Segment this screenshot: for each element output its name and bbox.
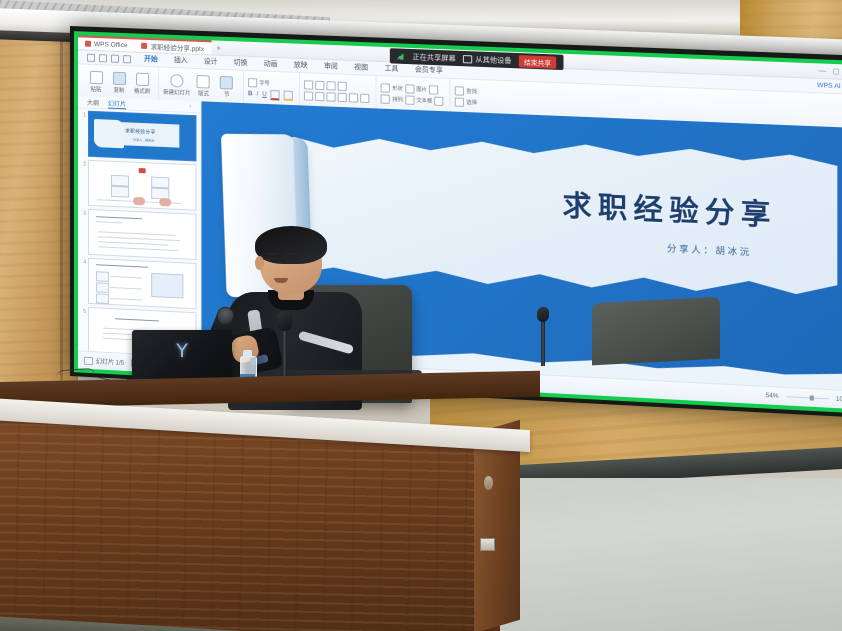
highlight-color-button[interactable]	[284, 90, 293, 100]
app-tab-label: WPS Office	[94, 40, 128, 48]
document-tab-label: 求职经验分享.pptx	[151, 41, 205, 53]
thumb-node	[96, 293, 109, 304]
podium-knob	[484, 476, 493, 490]
presentation-room-scene: 正在共享屏幕 从其他设备 结束共享 WPS Office 求职经验分享.pptx…	[0, 0, 842, 631]
thumb-line	[115, 318, 159, 322]
window-controls: — ▢ ✕	[812, 63, 842, 79]
redo-icon[interactable]	[123, 55, 131, 63]
ribbon-tab-design[interactable]: 设计	[196, 55, 226, 69]
textbox-label: 排列	[392, 96, 403, 104]
new-slide-label: 新建幻灯片	[163, 88, 190, 97]
ribbon-group-drawing: 形状 图片 排列 文本框	[376, 76, 448, 113]
editing-controls: 查找 选择	[455, 86, 477, 107]
paste-icon	[89, 71, 102, 85]
cast-group: 从其他设备	[463, 53, 512, 65]
align-center-icon[interactable]	[316, 92, 325, 101]
person-ear	[255, 256, 264, 270]
chair-secondary	[592, 297, 720, 366]
paste-label: 粘贴	[91, 85, 102, 93]
picture-label: 图片	[416, 86, 427, 94]
thumb-node	[111, 175, 129, 187]
podium-front-face	[0, 414, 500, 631]
print-icon[interactable]	[99, 54, 107, 62]
line-spacing-icon[interactable]	[338, 93, 347, 102]
textbox-icon[interactable]	[381, 94, 390, 103]
thumbnail-slide-2[interactable]	[88, 160, 197, 211]
arrange-icon[interactable]	[429, 85, 438, 95]
person-eye-left	[268, 258, 276, 261]
thumb-line	[110, 276, 142, 279]
thumbnail-slide-3[interactable]	[88, 209, 197, 260]
thumb-node	[151, 177, 169, 189]
signal-icon	[397, 52, 405, 59]
ribbon-group-editing: 查找 选择	[450, 79, 481, 115]
thumbnail-slide-1[interactable]: 求职经验分享 分享人：胡冰沅	[88, 111, 197, 162]
bold-button[interactable]: B	[248, 91, 252, 97]
thumb-chip	[159, 198, 171, 207]
format-painter-label: 格式刷	[134, 87, 150, 96]
person-eyebrow-right	[285, 253, 295, 255]
ribbon-tab-view[interactable]: 视图	[346, 61, 376, 75]
bottle-cap	[243, 350, 252, 358]
new-slide-icon	[170, 74, 183, 88]
share-status-label: 正在共享屏幕	[412, 52, 455, 64]
thumb-torn-paper	[94, 119, 124, 148]
thumb-chip	[133, 197, 145, 206]
zoom-slider[interactable]	[786, 396, 829, 400]
thumb-sidebox	[151, 273, 183, 299]
find-label: 查找	[466, 88, 477, 96]
person-eye-right	[286, 258, 294, 261]
thumb-line	[96, 221, 122, 223]
format-painter-button[interactable]: 格式刷	[132, 72, 152, 95]
list-item[interactable]: 1 求职经验分享 分享人：胡冰沅	[78, 110, 196, 161]
list-item[interactable]: 4	[78, 257, 196, 309]
app-tab[interactable]: WPS Office	[78, 35, 135, 51]
shape-icon[interactable]	[381, 83, 390, 92]
list-item[interactable]: 3	[78, 208, 196, 260]
person-eyebrow-left	[267, 253, 277, 255]
section-label: 节	[224, 90, 229, 98]
copy-button[interactable]: 复制	[109, 72, 129, 95]
font-size-label: 字号	[259, 79, 270, 86]
font-color-button[interactable]	[271, 90, 280, 100]
layout-button[interactable]: 版式	[193, 75, 213, 98]
thumbnail-number: 4	[78, 257, 86, 265]
italic-button[interactable]: I	[257, 91, 259, 97]
copy-icon	[113, 72, 126, 86]
align-left-icon[interactable]	[304, 91, 313, 100]
thumbnail-slide-4[interactable]	[88, 258, 197, 309]
ribbon-tab-animation[interactable]: 动画	[256, 57, 286, 71]
podium-plate	[480, 538, 495, 551]
thumbnail-number: 1	[78, 110, 86, 118]
font-row-top: 字号	[248, 78, 293, 89]
indent-increase-icon[interactable]	[338, 82, 347, 91]
ribbon-tab-tools[interactable]: 工具	[376, 62, 406, 76]
thumbnail-number: 3	[78, 208, 86, 216]
text-direction-icon[interactable]	[360, 94, 369, 103]
select-row: 选择	[455, 97, 477, 107]
quick-access-toolbar[interactable]	[82, 53, 136, 63]
ribbon-group-paragraph	[299, 73, 374, 110]
wps-logo-icon	[85, 41, 91, 47]
smartart-icon[interactable]	[405, 95, 414, 105]
drawing-controls: 形状 图片 排列 文本框	[381, 83, 444, 106]
fit-to-window-label[interactable]: 100%	[836, 396, 842, 403]
layout-label: 版式	[198, 89, 209, 97]
section-icon	[220, 76, 233, 90]
wps-ai-button[interactable]: WPS AI	[817, 82, 841, 90]
thumb-line	[96, 264, 148, 268]
paste-button[interactable]: 粘贴	[86, 71, 106, 94]
thumb-line	[110, 287, 142, 290]
paragraph-row-bottom	[304, 91, 369, 103]
columns-icon[interactable]	[349, 93, 358, 102]
thumb-line	[98, 231, 176, 236]
bullets-icon[interactable]	[304, 80, 313, 89]
laptop-brand-icon: Y	[174, 342, 190, 362]
ribbon-tab-transition[interactable]: 切换	[226, 56, 256, 70]
indent-decrease-icon[interactable]	[327, 81, 336, 90]
zoom-value: 54%	[766, 393, 779, 400]
thumb-title: 求职经验分享	[125, 128, 156, 135]
copy-label: 复制	[114, 86, 125, 94]
thumb-line	[98, 241, 168, 246]
ribbon-group-clipboard: 粘贴 复制 格式刷	[82, 64, 156, 101]
thumb-subtitle: 分享人：胡冰沅	[133, 138, 154, 143]
thumb-node	[111, 186, 129, 198]
tab-slides[interactable]: 幻灯片	[108, 98, 126, 109]
pptx-file-icon	[142, 43, 148, 49]
tab-outline[interactable]: 大纲	[87, 98, 99, 107]
stop-share-button[interactable]: 结束共享	[519, 55, 556, 69]
underline-button[interactable]: U	[262, 91, 266, 97]
select-icon[interactable]	[455, 97, 464, 107]
numbering-icon[interactable]	[316, 81, 325, 90]
format-painter-icon	[136, 73, 149, 87]
slide-thumbnail-pane[interactable]: 大纲 幻灯片 ‹ 1 求职经验分享 分享人：胡冰沅	[78, 96, 202, 357]
thumbnail-list[interactable]: 1 求职经验分享 分享人：胡冰沅 2	[78, 107, 201, 357]
thumb-line	[98, 246, 178, 251]
collapse-pane-icon[interactable]: ‹	[189, 103, 191, 109]
minimize-button[interactable]: —	[819, 67, 826, 75]
drawing-row-bottom: 排列 文本框	[381, 94, 444, 106]
desk-microphone-far	[541, 318, 545, 366]
ribbon-tab-review[interactable]: 审阅	[316, 59, 346, 73]
find-row: 查找	[455, 86, 477, 96]
cast-label: 从其他设备	[475, 54, 511, 66]
save-icon[interactable]	[87, 53, 95, 61]
ribbon-group-font: 字号 B I U	[243, 71, 297, 107]
cast-icon	[463, 55, 472, 63]
thumb-header-badge	[139, 168, 146, 173]
thumbnail-number: 2	[78, 159, 86, 167]
wall-panel-left	[0, 22, 78, 422]
document-tab[interactable]: 求职经验分享.pptx	[135, 37, 212, 54]
align-right-icon[interactable]	[327, 92, 336, 101]
layout-icon	[197, 75, 210, 89]
restore-button[interactable]: ▢	[833, 67, 840, 76]
thumb-node	[96, 282, 109, 293]
shape-label: 形状	[392, 85, 403, 93]
ribbon-tab-slideshow[interactable]: 放映	[286, 58, 316, 72]
font-controls: 字号 B I U	[248, 78, 293, 101]
ribbon-tab-insert[interactable]: 插入	[166, 54, 196, 68]
thumb-line	[98, 236, 180, 241]
new-slide-button[interactable]: 新建幻灯片	[163, 74, 190, 97]
paragraph-row-top	[304, 80, 369, 92]
picture-icon[interactable]	[405, 84, 414, 93]
smartart-label: 文本框	[416, 97, 432, 105]
undo-icon[interactable]	[111, 54, 119, 62]
ribbon-tab-start[interactable]: 开始	[136, 53, 166, 67]
font-row-bottom: B I U	[248, 89, 293, 101]
drawing-row-top: 形状 图片	[381, 83, 444, 95]
find-icon[interactable]	[455, 86, 464, 96]
font-size-icon[interactable]	[248, 78, 257, 87]
podium-side-face	[474, 420, 520, 631]
thumb-line	[96, 216, 142, 219]
list-item[interactable]: 2	[78, 159, 196, 210]
ribbon-right-tools: WPS AI ⚲	[817, 81, 842, 91]
select-label: 选择	[466, 99, 477, 107]
paragraph-controls	[304, 80, 369, 103]
section-button[interactable]: 节	[217, 76, 237, 99]
thumb-node	[96, 271, 109, 282]
new-tab-button[interactable]: +	[211, 40, 226, 55]
fill-icon[interactable]	[434, 97, 443, 107]
wooden-podium	[0, 398, 530, 630]
thumbnail-number: 5	[78, 306, 86, 314]
thumb-line	[110, 298, 142, 301]
